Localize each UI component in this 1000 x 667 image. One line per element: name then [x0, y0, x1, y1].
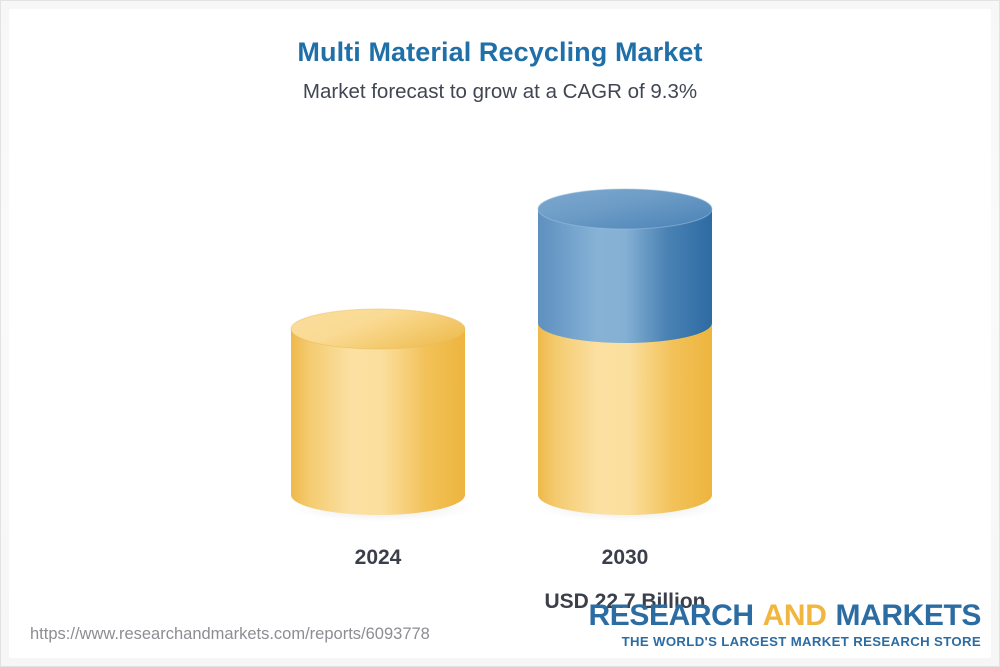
axis-label-2024: 2024 — [248, 545, 508, 571]
chart-plot-area: USD 13.3 Billion — [1, 141, 999, 571]
brand-logo[interactable]: RESEARCHANDMARKETS THE WORLD'S LARGEST M… — [589, 600, 981, 650]
cylinder-body-2024 — [291, 329, 465, 515]
source-url-link[interactable]: https://www.researchandmarkets.com/repor… — [30, 624, 430, 644]
logo-word-and: AND — [763, 599, 827, 632]
infographic-card: Multi Material Recycling Market Market f… — [0, 0, 1000, 667]
bar-cylinder-2024 — [278, 305, 478, 525]
cylinder-segment-base-2030 — [538, 323, 712, 515]
logo-tagline: THE WORLD'S LARGEST MARKET RESEARCH STOR… — [589, 634, 981, 650]
logo-wordmark: RESEARCHANDMARKETS — [589, 600, 981, 632]
logo-word-research: RESEARCH — [589, 599, 754, 632]
bar-cylinder-2030 — [525, 185, 725, 525]
axis-label-2030: 2030 — [495, 545, 755, 571]
cylinder-2024-svg — [278, 305, 478, 525]
page-title: Multi Material Recycling Market — [1, 35, 999, 69]
footer: https://www.researchandmarkets.com/repor… — [1, 582, 999, 666]
header: Multi Material Recycling Market Market f… — [1, 35, 999, 105]
page-subtitle: Market forecast to grow at a CAGR of 9.3… — [1, 79, 999, 105]
cylinder-2030-svg — [525, 185, 725, 525]
logo-word-markets: MARKETS — [835, 599, 981, 632]
